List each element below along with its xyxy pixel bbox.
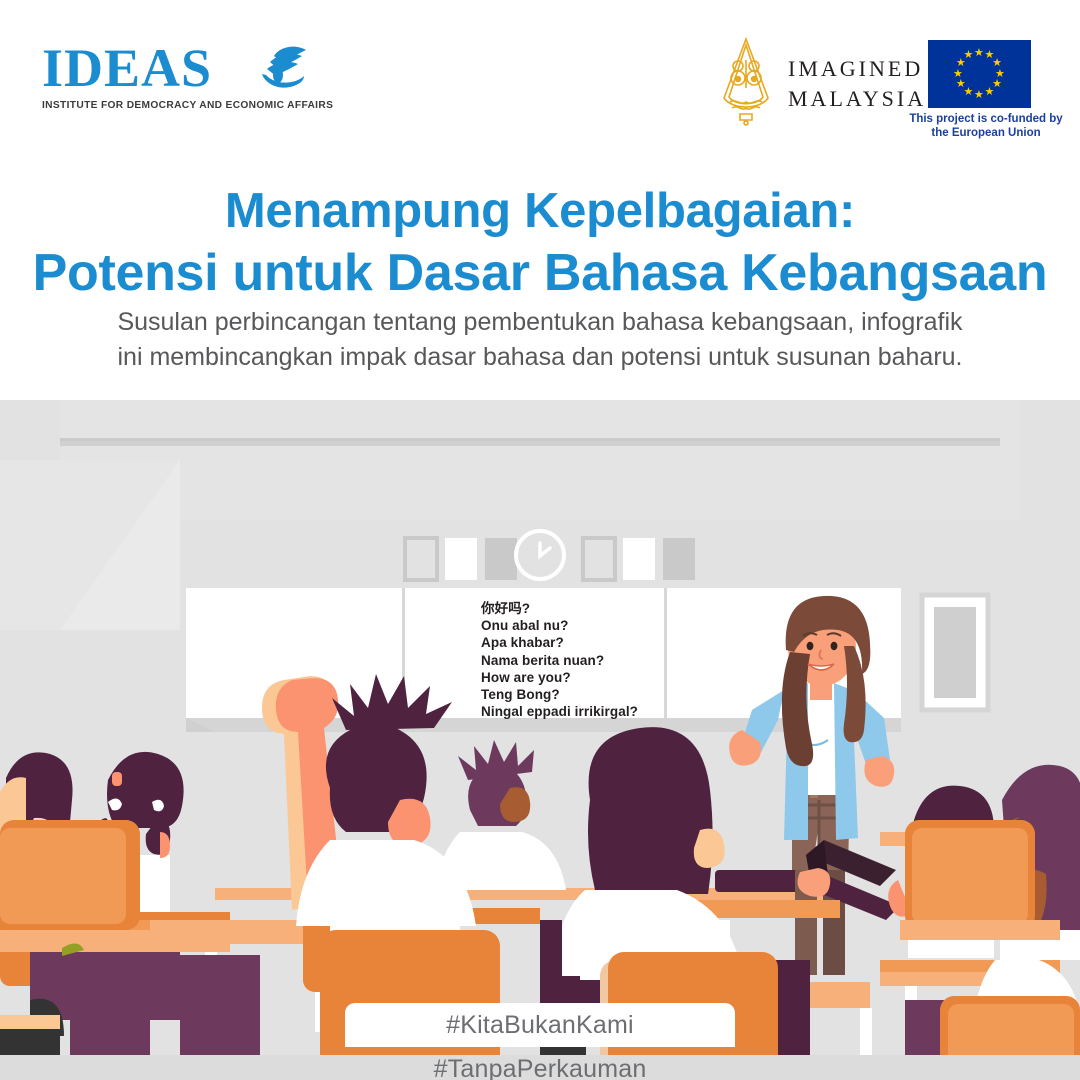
imagined-malaysia-logo: IMAGINED MALAYSIA [716, 36, 896, 126]
european-union-flag: ★★★★★★★★★★★★ [928, 40, 1031, 108]
hashtag-bar: #KitaBukanKami #TanpaPerkauman [345, 1003, 735, 1047]
subtitle-line-1: Susulan perbincangan tentang pembentukan… [70, 305, 1010, 340]
eu-caption-line1: This project is co-funded by [900, 112, 1072, 126]
eu-funding-block: ★★★★★★★★★★★★ This project is co-funded b… [900, 40, 1072, 132]
ideas-tagline: INSTITUTE FOR DEMOCRACY AND ECONOMIC AFF… [42, 100, 322, 111]
whiteboard-line-1: 你好吗? [481, 600, 691, 617]
eu-star-7: ★ [974, 90, 984, 101]
infographic-page: IDEAS INSTITUTE FOR DEMOCRACY AND ECONOM… [0, 0, 1080, 1080]
whiteboard-line-5: How are you? [481, 669, 691, 686]
eu-star-1: ★ [974, 48, 984, 59]
picture-frame-side [922, 595, 988, 710]
whiteboard-line-6: Teng Bong? [481, 686, 691, 703]
page-subtitle: Susulan perbincangan tentang pembentukan… [70, 305, 1010, 375]
title-line-1: Menampung Kepelbagaian: [0, 180, 1080, 242]
gunungan-ornament-icon [716, 36, 776, 126]
ideas-logo: IDEAS INSTITUTE FOR DEMOCRACY AND ECONOM… [42, 40, 322, 120]
eu-star-9: ★ [956, 79, 966, 90]
eu-star-12: ★ [964, 50, 974, 61]
subtitle-line-2: ini membincangkan impak dasar bahasa dan… [70, 340, 1010, 375]
classroom-illustration [0, 400, 1080, 1080]
hashtags: #KitaBukanKami #TanpaPerkauman [345, 1003, 735, 1080]
ideas-bird-icon [240, 44, 312, 92]
eu-caption: This project is co-funded by the Europea… [900, 112, 1072, 140]
whiteboard-line-7: Ningal eppadi irrikirgal? [481, 703, 691, 720]
whiteboard-text: 你好吗?Onu abal nu?Apa khabar?Nama berita n… [481, 600, 691, 720]
classroom-scene-svg [0, 400, 1080, 1080]
title-line-2: Potensi untuk Dasar Bahasa Kebangsaan [0, 242, 1080, 304]
whiteboard-line-4: Nama berita nuan? [481, 652, 691, 669]
eu-star-6: ★ [985, 87, 995, 98]
header: IDEAS INSTITUTE FOR DEMOCRACY AND ECONOM… [0, 0, 1080, 400]
eu-caption-line2: the European Union [900, 126, 1072, 140]
whiteboard-line-2: Onu abal nu? [481, 617, 691, 634]
whiteboard-line-3: Apa khabar? [481, 634, 691, 651]
eu-star-10: ★ [953, 69, 963, 80]
page-title: Menampung Kepelbagaian: Potensi untuk Da… [0, 180, 1080, 304]
